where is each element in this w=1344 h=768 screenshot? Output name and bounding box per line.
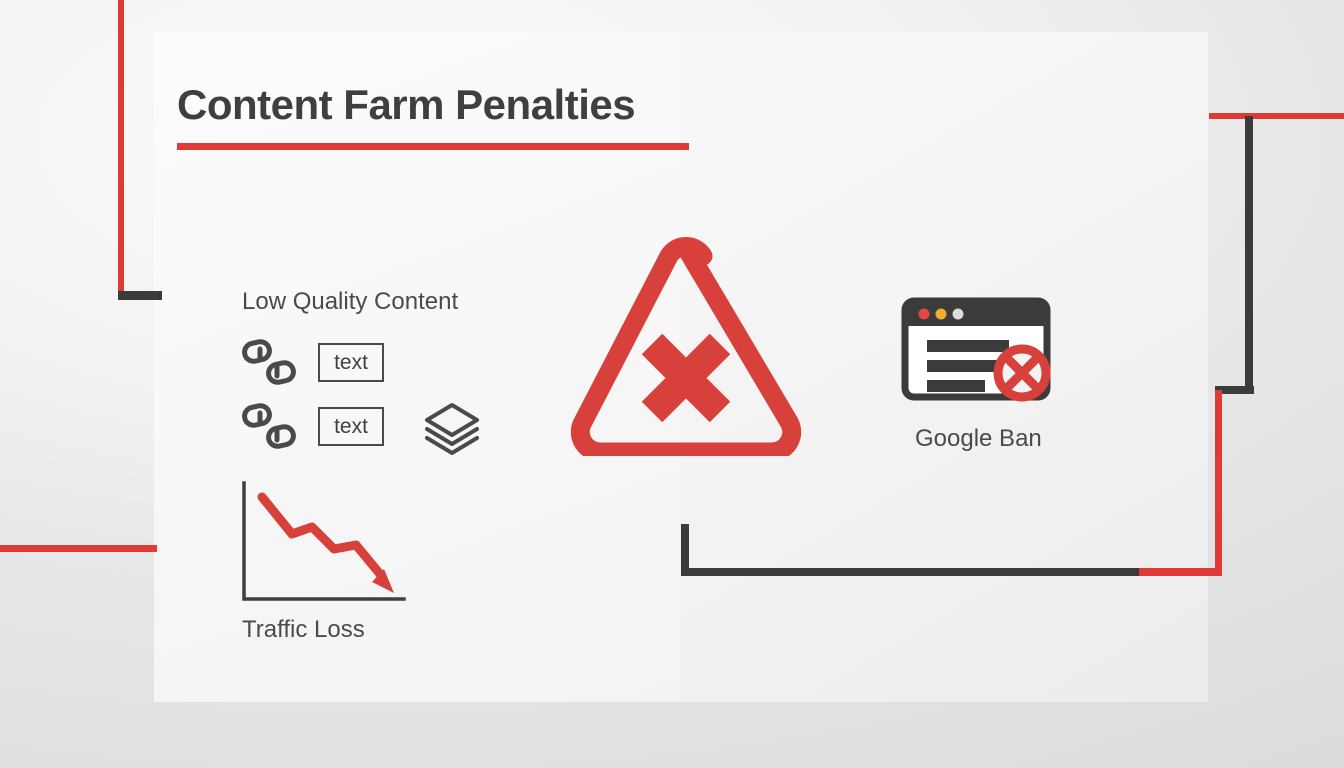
layers-stack-icon <box>421 400 483 463</box>
browser-window-icon <box>900 296 1068 411</box>
decor-line-bottom-dark-horizontal <box>681 568 1141 576</box>
broken-link-icon <box>240 401 298 458</box>
title-underline-rule <box>177 143 689 150</box>
google-ban-label: Google Ban <box>915 425 1042 453</box>
browser-content-bar <box>927 360 999 372</box>
browser-dot-red <box>919 309 930 320</box>
slide-canvas: Content Farm Penalties Low Quality Conte… <box>0 0 1344 768</box>
decor-line-left-mid-red-horizontal <box>0 545 157 552</box>
traffic-loss-label: Traffic Loss <box>242 616 365 644</box>
content-text-box: text <box>318 343 384 382</box>
decor-line-top-left-dark-horizontal <box>118 291 162 300</box>
decor-line-right-dark-vertical <box>1245 116 1253 393</box>
browser-content-bar <box>927 380 985 392</box>
decor-line-bottom-right-red-vertical <box>1215 390 1222 576</box>
title-block: Content Farm Penalties <box>177 82 689 150</box>
broken-link-icon <box>240 337 298 394</box>
traffic-loss-chart <box>238 481 406 614</box>
circle-x-icon <box>994 345 1050 401</box>
content-text-box: text <box>318 407 384 446</box>
page-title: Content Farm Penalties <box>177 82 689 127</box>
decor-line-top-right-red-horizontal <box>1209 113 1344 119</box>
decor-line-bottom-red-horizontal <box>1139 568 1219 576</box>
browser-dot-gray <box>953 309 964 320</box>
low-quality-content-label: Low Quality Content <box>242 288 458 316</box>
browser-content-bar <box>927 340 1009 352</box>
warning-triangle-x-icon <box>556 226 816 461</box>
browser-dot-yellow <box>936 309 947 320</box>
decor-line-top-left-red-vertical <box>118 0 124 297</box>
